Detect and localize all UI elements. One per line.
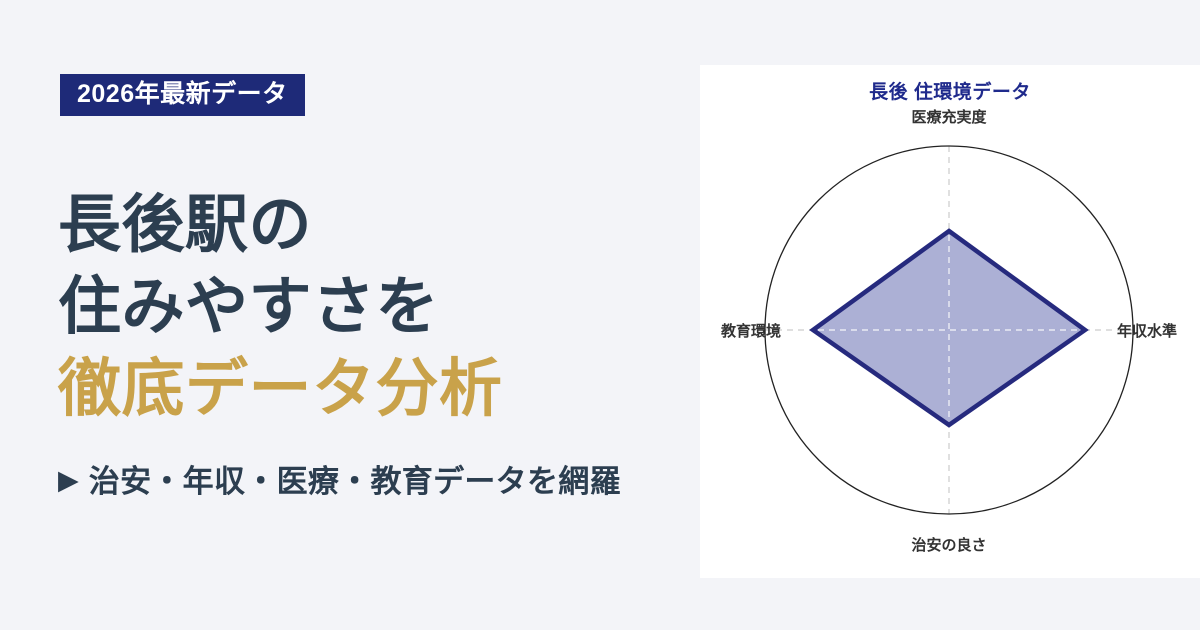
subline-block: ▶ 治安・年収・医療・教育データを網羅 bbox=[58, 466, 621, 497]
headline-line-1: 長後駅の bbox=[58, 185, 698, 267]
radar-label-bottom: 治安の良さ bbox=[911, 536, 986, 554]
headline-line-3: 徹底データ分析 bbox=[58, 349, 698, 431]
triangle-right-icon: ▶ bbox=[58, 467, 79, 494]
radar-label-top: 医療充実度 bbox=[911, 108, 987, 126]
subline-text: 治安・年収・医療・教育データを網羅 bbox=[89, 466, 621, 497]
left-text-panel: 2026年最新データ 長後駅の 住みやすさを 徹底データ分析 ▶ 治安・年収・医… bbox=[0, 0, 700, 630]
headline-block: 長後駅の 住みやすさを 徹底データ分析 bbox=[58, 185, 698, 431]
headline-line-2: 住みやすさを bbox=[58, 267, 698, 349]
radar-chart-panel: 長後 住環境データ 医療充実度 年収水準 bbox=[700, 65, 1200, 578]
radar-chart-canvas: 医療充実度 年収水準 治安の良さ 教育環境 bbox=[700, 65, 1200, 578]
year-badge: 2026年最新データ bbox=[60, 74, 305, 116]
poster-root: 2026年最新データ 長後駅の 住みやすさを 徹底データ分析 ▶ 治安・年収・医… bbox=[0, 0, 1200, 630]
radar-label-right: 年収水準 bbox=[1117, 322, 1177, 340]
radar-label-left: 教育環境 bbox=[720, 322, 781, 340]
